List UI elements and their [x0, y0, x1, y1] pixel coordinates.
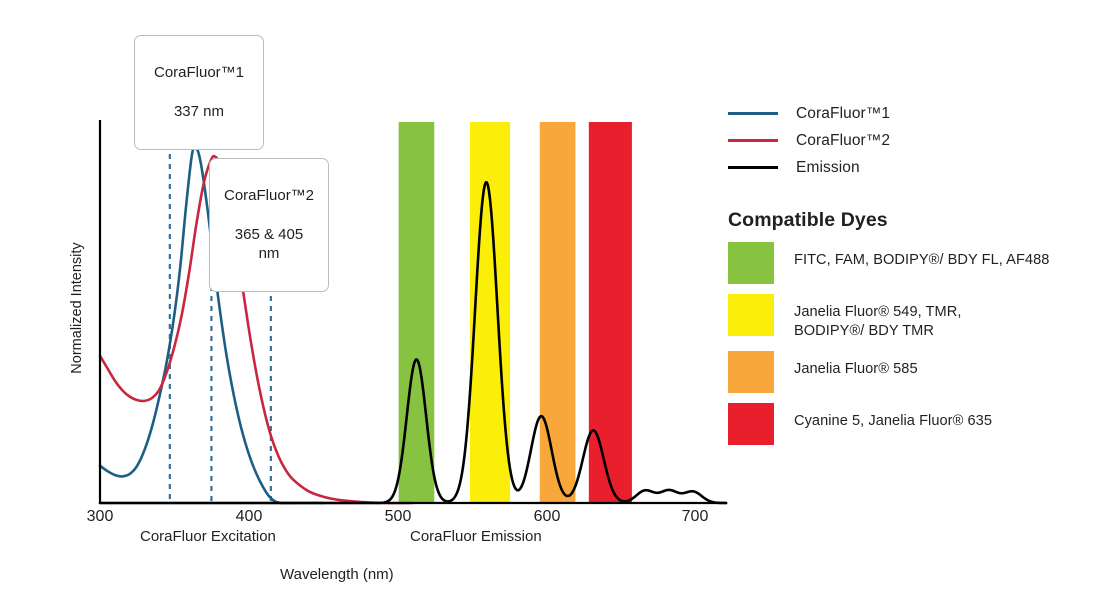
dye-legend-row: FITC, FAM, BODIPY®/ BDY FL, AF488: [728, 242, 1110, 285]
xtick-400: 400: [219, 508, 279, 526]
legend-line-swatch: [728, 112, 778, 115]
emission-band-rect: [540, 122, 576, 503]
callout-corafluor2: CoraFluor™2 365 & 405 nm: [209, 158, 329, 292]
legend-line-row: CoraFluor™2: [728, 127, 1110, 154]
region-label-emission: CoraFluor Emission: [410, 528, 542, 545]
spectra-figure: CoraFluor™1 337 nm CoraFluor™2 365 & 405…: [0, 0, 1110, 612]
xtick-300: 300: [70, 508, 130, 526]
callout-1-line1: CoraFluor™1: [149, 63, 249, 82]
compatible-dyes-list: FITC, FAM, BODIPY®/ BDY FL, AF488Janelia…: [728, 242, 1110, 446]
dye-label: Janelia Fluor® 549, TMR, BODIPY®/ BDY TM…: [794, 294, 961, 342]
xtick-600: 600: [517, 508, 577, 526]
legend-line-swatch: [728, 139, 778, 142]
dye-label: Janelia Fluor® 585: [794, 351, 918, 379]
dye-color-swatch: [728, 351, 774, 393]
emission-band-rects: [399, 122, 632, 503]
xtick-500: 500: [368, 508, 428, 526]
legend-line-row: CoraFluor™1: [728, 100, 1110, 127]
legend-line-swatch: [728, 166, 778, 169]
dye-color-swatch: [728, 294, 774, 336]
x-axis-title: Wavelength (nm): [280, 566, 394, 583]
chart-plot-area: CoraFluor™1 337 nm CoraFluor™2 365 & 405…: [0, 0, 740, 612]
xtick-700: 700: [665, 508, 725, 526]
callout-2-line2: 365 & 405 nm: [224, 225, 314, 263]
dye-legend-row: Janelia Fluor® 585: [728, 351, 1110, 394]
legend-line-label: Emission: [796, 159, 860, 177]
region-label-excitation: CoraFluor Excitation: [140, 528, 276, 545]
legend-panel: CoraFluor™1CoraFluor™2Emission Compatibl…: [728, 100, 1110, 446]
dye-legend-row: Cyanine 5, Janelia Fluor® 635: [728, 403, 1110, 446]
dye-legend-row: Janelia Fluor® 549, TMR, BODIPY®/ BDY TM…: [728, 294, 1110, 342]
dye-color-swatch: [728, 403, 774, 445]
callout-2-line1: CoraFluor™2: [224, 186, 314, 205]
legend-line-label: CoraFluor™1: [796, 105, 890, 123]
callout-1-line2: 337 nm: [149, 102, 249, 121]
emission-band-rect: [589, 122, 632, 503]
curve-legend: CoraFluor™1CoraFluor™2Emission: [728, 100, 1110, 181]
y-axis-title: Normalized Intensity: [69, 223, 85, 393]
legend-line-row: Emission: [728, 154, 1110, 181]
dye-label: FITC, FAM, BODIPY®/ BDY FL, AF488: [794, 242, 1049, 270]
dye-color-swatch: [728, 242, 774, 284]
legend-line-label: CoraFluor™2: [796, 132, 890, 150]
callout-corafluor1: CoraFluor™1 337 nm: [134, 35, 264, 150]
dye-label: Cyanine 5, Janelia Fluor® 635: [794, 403, 992, 431]
compatible-dyes-title: Compatible Dyes: [728, 209, 1110, 232]
